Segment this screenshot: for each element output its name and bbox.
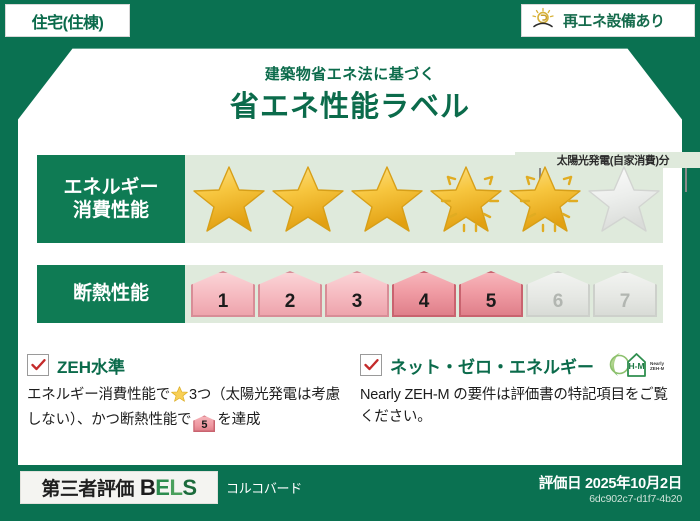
third-party-eval-label: 第三者評価 (41, 474, 134, 501)
renewable-equipment-label: 再エネ設備あり (563, 10, 665, 31)
energy-star-group (185, 155, 663, 243)
insulation-grade-6-inactive: 6 (526, 271, 590, 317)
insulation-grade-5: 5 (459, 271, 523, 317)
svg-text:ZEH-M: ZEH-M (650, 366, 664, 371)
evaluation-date: 評価日 2025年10月2日 (539, 472, 682, 493)
check-icon (364, 359, 379, 371)
dwelling-type-tag: 住宅(住棟) (5, 4, 130, 37)
zeh-m-logo: H-M Nearly ZEH-M (606, 350, 664, 380)
insulation-grade-3: 3 (325, 271, 389, 317)
zeh-standard-note: ZEH水準 エネルギー消費性能で3つ（太陽光発電は考慮しない）、かつ断熱性能で5… (27, 352, 345, 432)
zeh-standard-header: ZEH水準 (27, 352, 345, 378)
net-zero-energy-checkbox[interactable] (360, 354, 382, 376)
energy-star-3 (347, 155, 426, 243)
insulation-grade-4: 4 (392, 271, 456, 317)
company-name: コルコバード (226, 478, 302, 497)
sun-icon (530, 7, 556, 34)
dwelling-type-label: 住宅(住棟) (32, 9, 104, 33)
check-icon (31, 359, 46, 371)
insulation-grade-7-inactive: 7 (593, 271, 657, 317)
energy-star-track: 太陽光発電(自家消費)分 (185, 155, 663, 243)
label-subtitle: 建築物省エネ法に基づく (0, 63, 700, 84)
inline-house-badge: 5 (193, 415, 215, 432)
svg-text:H-M: H-M (628, 361, 644, 371)
energy-performance-row: エネルギー 消費性能 太陽光発電(自家消費)分 (37, 155, 663, 243)
energy-star-6-inactive (584, 155, 663, 243)
label-footer: 第三者評価 BELS コルコバード 評価日 2025年10月2日 6dc902c… (0, 465, 700, 521)
zeh-body-part1: エネルギー消費性能で (27, 387, 170, 403)
energy-star-4 (426, 155, 505, 243)
net-zero-energy-title: ネット・ゼロ・エネルギー (390, 353, 594, 378)
zeh-standard-checkbox[interactable] (27, 354, 49, 376)
insulation-grade-group: 1 2 3 4 5 (185, 265, 663, 323)
net-zero-energy-body: Nearly ZEH-M の要件は評価書の特記項目をご覧ください。 (360, 384, 678, 429)
insulation-performance-label: 断熱性能 (37, 265, 185, 323)
insulation-performance-row: 断熱性能 1 2 3 4 (37, 265, 663, 323)
bels-energy-label: 住宅(住棟) 再エネ設備あり 建築物省エネ法に基づく 省エネ性能ラベル (0, 0, 700, 521)
energy-star-2 (268, 155, 347, 243)
energy-star-5 (505, 155, 584, 243)
zeh-standard-body: エネルギー消費性能で3つ（太陽光発電は考慮しない）、かつ断熱性能で5を達成 (27, 384, 345, 432)
insulation-label-text: 断熱性能 (73, 282, 149, 305)
insulation-grade-2: 2 (258, 271, 322, 317)
net-zero-energy-note: ネット・ゼロ・エネルギー H-M Nearly ZEH-M (360, 352, 678, 429)
renewable-equipment-tag: 再エネ設備あり (521, 4, 695, 37)
zeh-body-starcount: 3つ（太陽光発電 (189, 387, 297, 403)
energy-label-line2: 消費性能 (73, 199, 149, 222)
net-zero-energy-header: ネット・ゼロ・エネルギー H-M Nearly ZEH-M (360, 352, 678, 378)
evaluation-id: 6dc902c7-d1f7-4b20 (589, 493, 682, 505)
energy-label-line1: エネルギー (63, 176, 158, 199)
label-main-title: 省エネ性能ラベル (0, 83, 700, 125)
bels-certification-box: 第三者評価 BELS (20, 471, 218, 504)
insulation-grade-1: 1 (191, 271, 255, 317)
energy-performance-label: エネルギー 消費性能 (37, 155, 185, 243)
zeh-body-part3: を達成 (217, 412, 260, 428)
zeh-standard-title: ZEH水準 (57, 353, 125, 378)
bels-wordmark: BELS (140, 475, 197, 501)
inline-star-icon (171, 386, 188, 409)
insulation-grade-track: 1 2 3 4 5 (185, 265, 663, 323)
energy-star-1 (189, 155, 268, 243)
